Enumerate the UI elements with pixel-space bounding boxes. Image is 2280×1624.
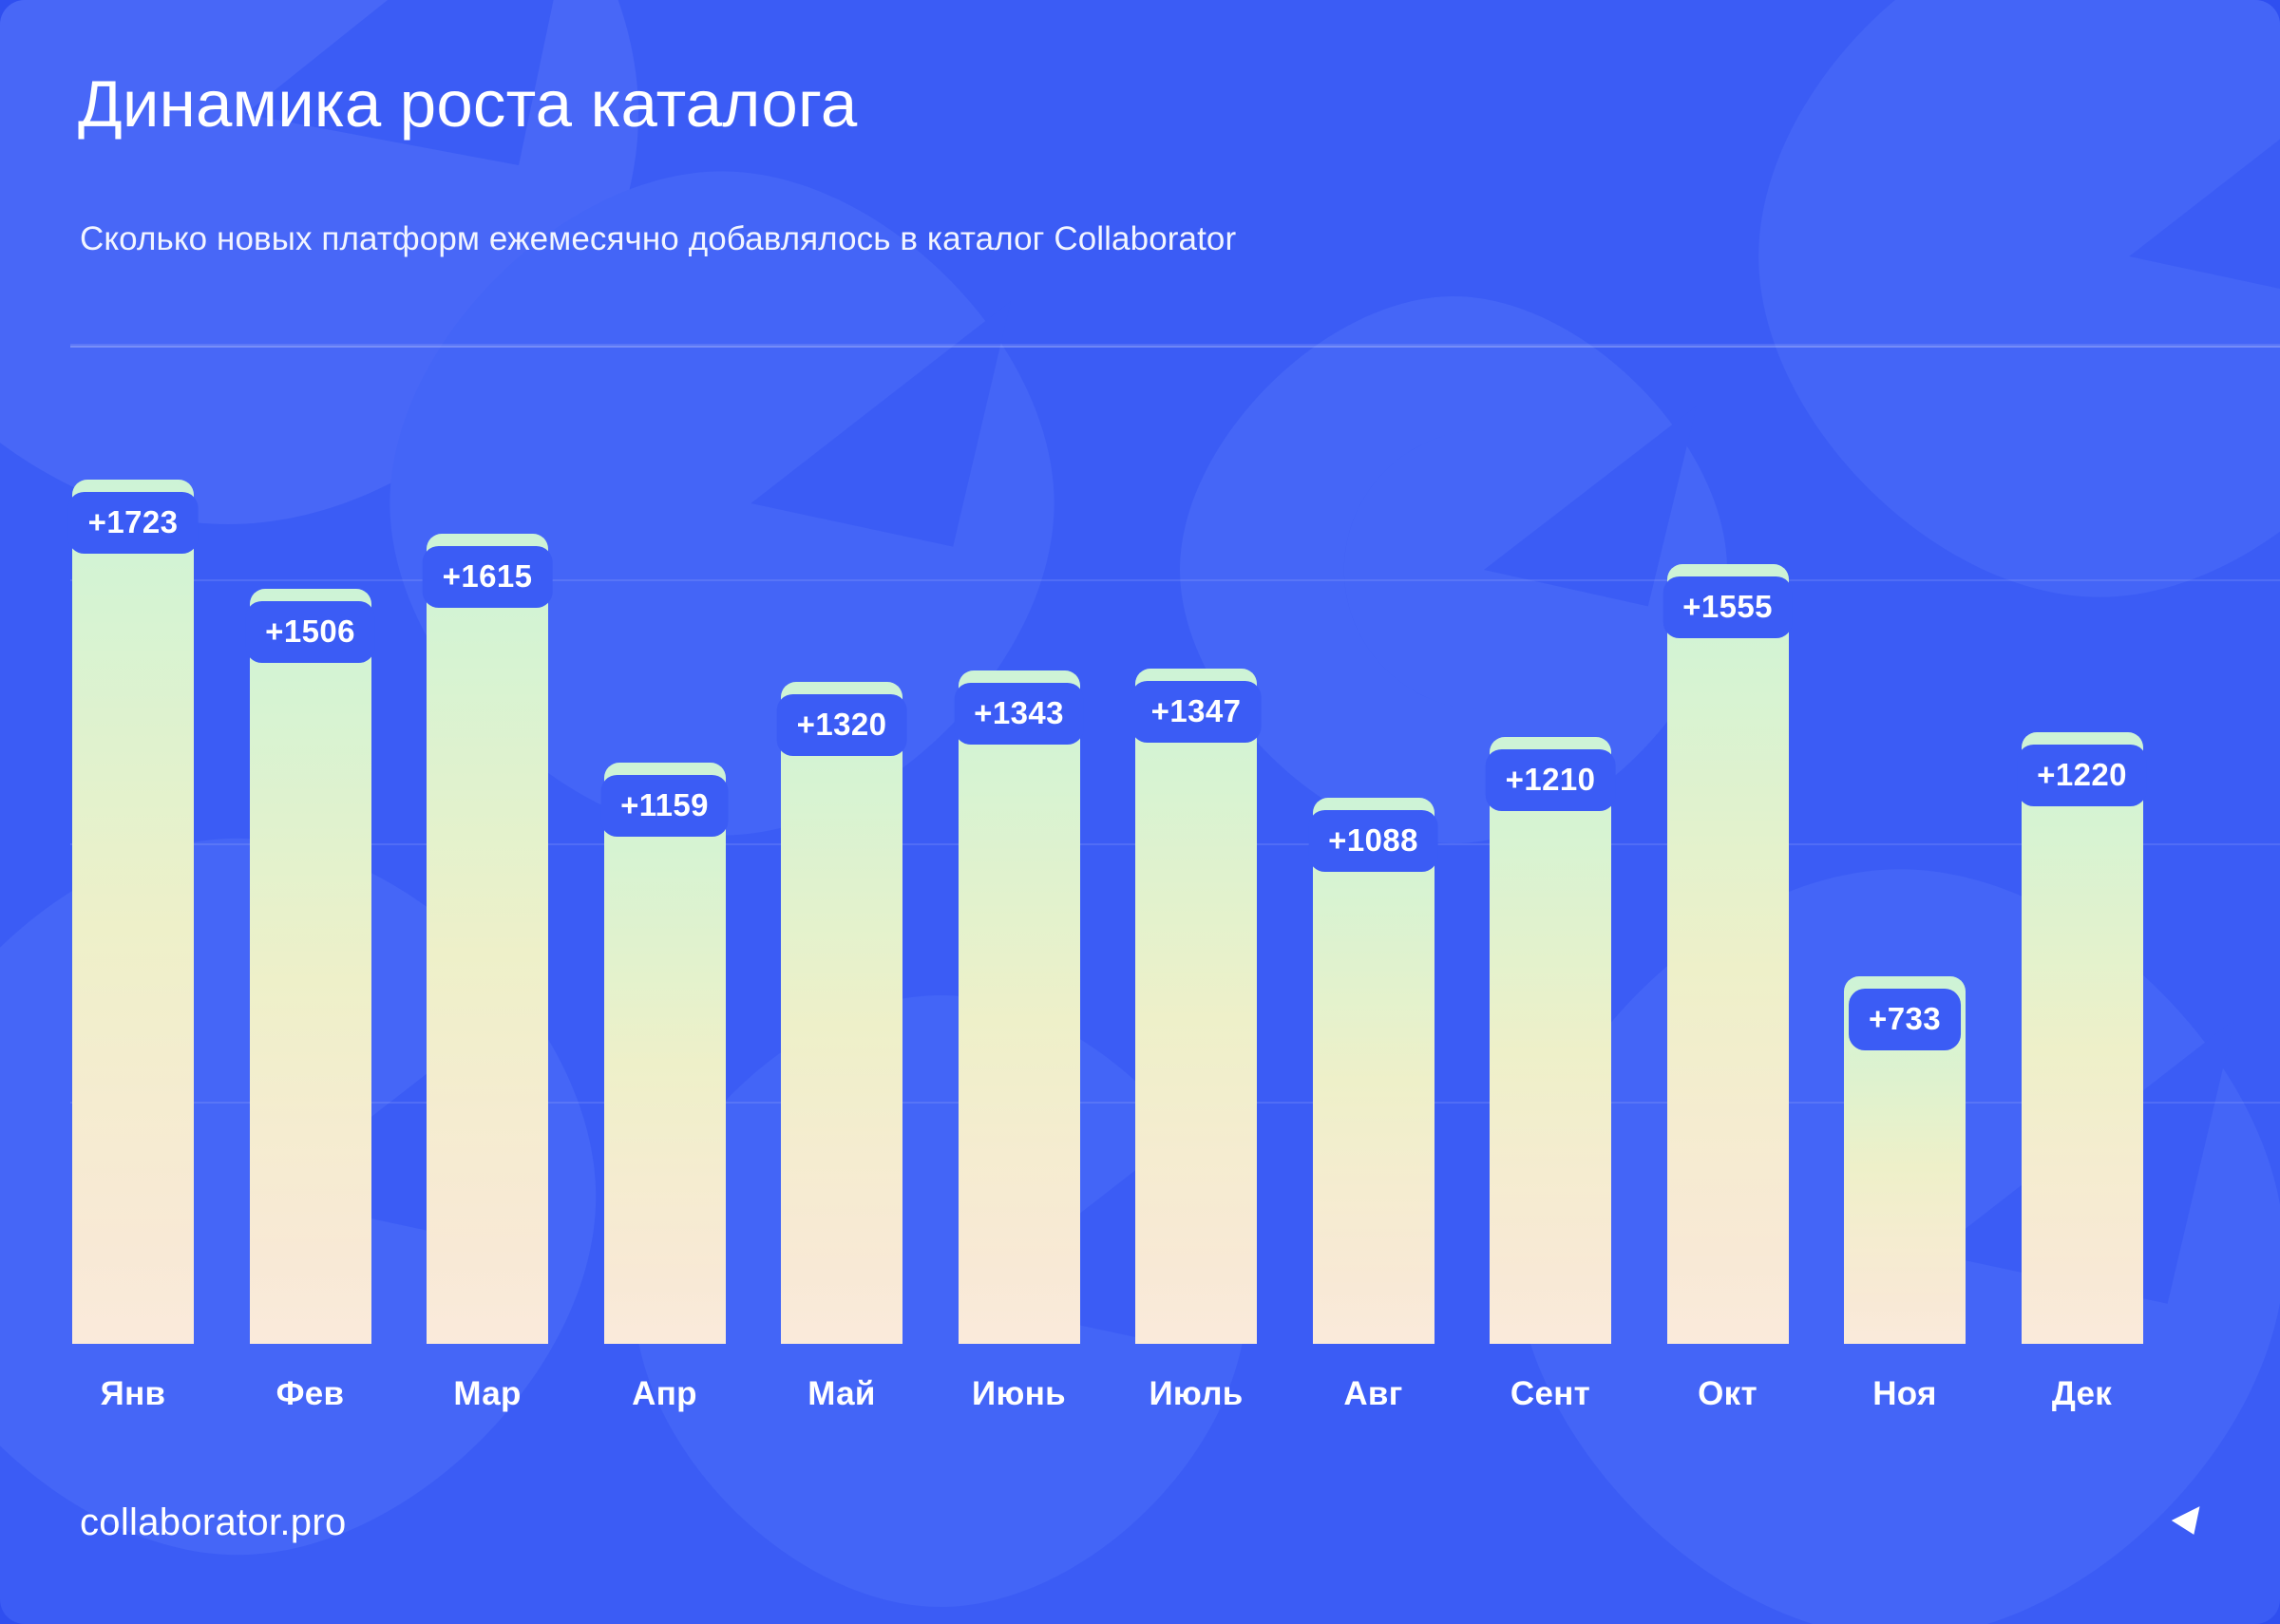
x-axis-label: Янв [101,1375,166,1413]
bar-value-badge: +1723 [68,492,199,554]
bar-value-badge: +733 [1849,989,1961,1050]
site-url[interactable]: collaborator.pro [80,1501,347,1544]
x-axis-label: Июль [1149,1375,1243,1413]
bar-group: +1320Май [781,0,902,1624]
bar[interactable] [1313,798,1434,1344]
bar[interactable] [2022,732,2143,1344]
poster-footer: collaborator.pro [0,1434,2280,1624]
bar-group: +1088Авг [1313,0,1434,1624]
bar-group: +1159Апр [604,0,726,1624]
bar-group: +1343Июнь [959,0,1080,1624]
bar[interactable] [959,670,1080,1344]
bar-value-badge: +1088 [1308,810,1438,872]
bar-value-badge: +1506 [245,601,375,663]
collaborator-logo-icon [2143,1491,2202,1550]
x-axis-label: Дек [2052,1375,2112,1413]
bar-group: +733Ноя [1844,0,1966,1624]
bar-value-badge: +1320 [777,694,907,756]
x-axis-label: Фев [276,1375,345,1413]
bar-group: +1723Янв [72,0,194,1624]
bar-group: +1347Июль [1135,0,1257,1624]
x-axis-label: Окт [1698,1375,1757,1413]
bar-value-badge: +1615 [423,546,553,608]
x-axis-label: Июнь [972,1375,1066,1413]
bar[interactable] [427,534,548,1344]
bar-chart: +1723Янв+1506Фев+1615Мар+1159Апр+1320Май… [0,0,2280,1624]
bar-group: +1555Окт [1667,0,1789,1624]
bar-group: +1220Дек [2022,0,2143,1624]
bar[interactable] [72,480,194,1344]
bar[interactable] [1135,669,1257,1344]
bar[interactable] [781,682,902,1344]
bar[interactable] [604,763,726,1344]
bar[interactable] [1667,564,1789,1344]
x-axis-label: Мар [453,1375,521,1413]
bar-group: +1615Мар [427,0,548,1624]
x-axis-label: Апр [632,1375,697,1413]
x-axis-label: Авг [1343,1375,1402,1413]
bar-value-badge: +1555 [1662,576,1793,638]
bars-container: +1723Янв+1506Фев+1615Мар+1159Апр+1320Май… [0,0,2280,1624]
bar[interactable] [1490,737,1611,1344]
bar-value-badge: +1343 [954,683,1084,745]
x-axis-label: Май [807,1375,875,1413]
x-axis-label: Сент [1510,1375,1590,1413]
infographic-poster: Динамика роста каталога Сколько новых пл… [0,0,2280,1624]
bar-value-badge: +1210 [1486,749,1616,811]
bar-value-badge: +1347 [1131,681,1262,743]
bar-value-badge: +1220 [2017,745,2147,806]
bar-value-badge: +1159 [600,775,729,837]
x-axis-label: Ноя [1872,1375,1937,1413]
bar-group: +1506Фев [250,0,371,1624]
bar-group: +1210Сент [1490,0,1611,1624]
bar[interactable] [250,589,371,1344]
